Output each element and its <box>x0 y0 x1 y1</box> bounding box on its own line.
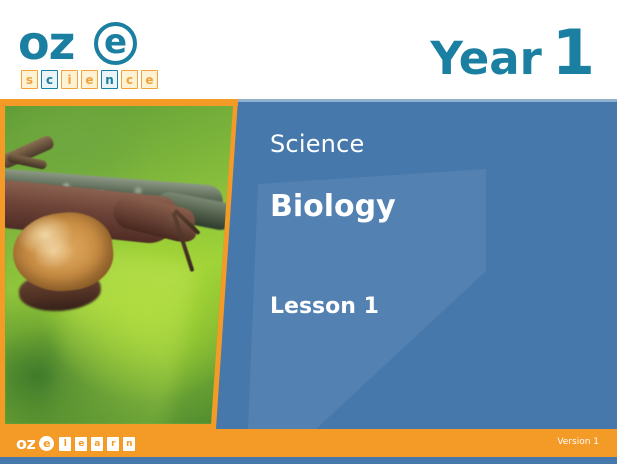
footer-letter-box: r <box>107 437 119 451</box>
slide-footer: oz e l e a r n Version 1 <box>0 429 617 457</box>
logo-letter-box: c <box>41 70 58 89</box>
footer-letter-box: l <box>59 437 71 451</box>
title-text-block: Science Biology Lesson 1 <box>270 130 396 319</box>
logo-letter-box: i <box>61 70 78 89</box>
logo-oz-text: oz <box>18 20 74 66</box>
footer-logo-oz-text: oz <box>16 434 35 453</box>
lesson-label: Lesson 1 <box>270 294 396 319</box>
bottom-blue-strip <box>0 457 617 464</box>
footer-letter-box: e <box>75 437 87 451</box>
footer-letter-box: n <box>123 437 135 451</box>
photo-frame <box>0 99 238 429</box>
logo-letter-box: e <box>141 70 158 89</box>
logo-letter-box: c <box>121 70 138 89</box>
slide-root: oz e s c i e n c e Year 1 <box>0 0 617 464</box>
logo-letter-box: s <box>21 70 38 89</box>
year-number: 1 <box>552 22 595 84</box>
oze-science-logo: oz e s c i e n c e <box>18 20 163 90</box>
logo-letter-box: e <box>81 70 98 89</box>
page-title: Biology <box>270 189 396 224</box>
version-label: Version 1 <box>557 437 599 447</box>
snail-photo <box>5 105 233 424</box>
ozelearn-logo: oz e l e a r n <box>16 434 137 453</box>
logo-e-circle-icon: e <box>94 22 137 65</box>
year-label: Year <box>430 36 542 81</box>
header-orange-rule <box>0 99 238 106</box>
year-heading: Year 1 <box>430 22 595 84</box>
logo-science-wordmark: s c i e n c e <box>21 70 158 89</box>
logo-letter-box: n <box>101 70 118 89</box>
footer-letter-box: a <box>91 437 103 451</box>
subject-label: Science <box>270 130 396 158</box>
footer-logo-e-circle-icon: e <box>39 436 54 451</box>
slide-header: oz e s c i e n c e Year 1 <box>0 0 617 99</box>
